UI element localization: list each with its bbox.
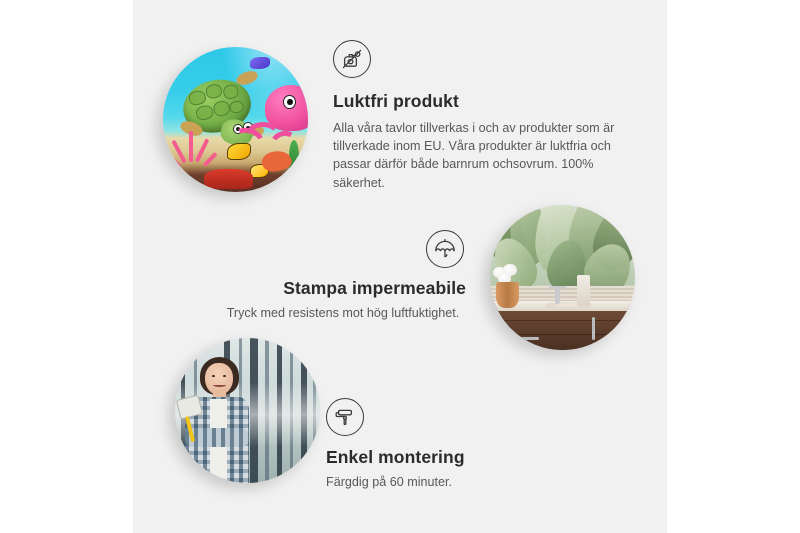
no-fragrance-icon	[333, 40, 371, 78]
feature-odour-free: Luktfri produkt Alla våra tavlor tillver…	[333, 40, 633, 192]
feature-easy-mounting: Enkel montering Färgdig på 60 minuter.	[326, 398, 606, 491]
feature-description: Tryck med resistens mot hög luftfuktighe…	[218, 304, 468, 322]
feature-title: Enkel montering	[326, 447, 606, 469]
umbrella-icon	[426, 230, 464, 268]
page-root: Luktfri produkt Alla våra tavlor tillver…	[0, 0, 800, 533]
feature-description: Alla våra tavlor tillverkas i och av pro…	[333, 119, 633, 192]
paint-roller-icon	[326, 398, 364, 436]
feature-title: Stampa impermeabile	[218, 278, 468, 300]
photo-bathroom-leaf-wallpaper	[490, 205, 635, 350]
photo-underwater-scene	[163, 47, 308, 192]
photo-woman-forest-wallpaper	[175, 338, 320, 483]
feature-waterproof: Stampa impermeabile Tryck med resistens …	[218, 230, 468, 322]
feature-title: Luktfri produkt	[333, 91, 633, 113]
feature-description: Färgdig på 60 minuter.	[326, 473, 606, 491]
